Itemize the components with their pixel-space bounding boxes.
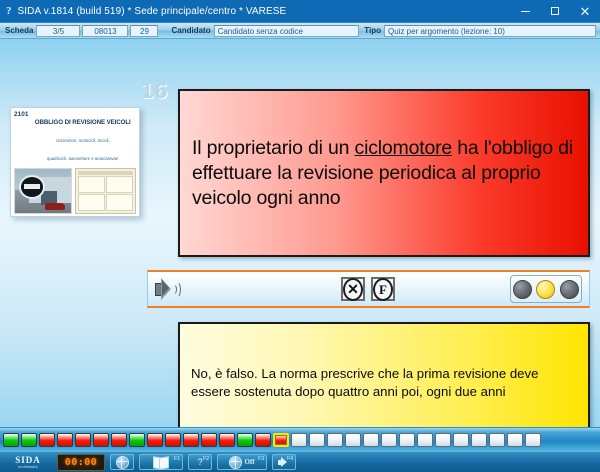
question-keyword: ciclomotore: [355, 137, 453, 159]
progress-cell-12[interactable]: [201, 433, 217, 447]
minimize-icon: [521, 11, 530, 12]
progress-cell-23[interactable]: [399, 433, 415, 447]
progress-cell-2[interactable]: [21, 433, 37, 447]
scheda-value-field[interactable]: 3/5: [36, 25, 80, 37]
document-illustration: [75, 168, 137, 214]
progress-cell-22[interactable]: [381, 433, 397, 447]
progress-cell-5[interactable]: [75, 433, 91, 447]
illustration-code: 2101: [14, 111, 28, 118]
language-off-button[interactable]: Off F3: [217, 454, 267, 470]
illustration-subtitle-1: ciclomotori, motocicli, tricicli,: [56, 138, 110, 143]
answer-buttons: ✕ F: [341, 277, 395, 301]
inspection-sign-icon: [19, 175, 45, 199]
answer-f-button[interactable]: F: [371, 277, 395, 301]
progress-cell-30[interactable]: [525, 433, 541, 447]
answer-text: No, è falso. La norma prescrive che la p…: [180, 365, 588, 401]
help-button[interactable]: ? F2: [188, 454, 212, 470]
progress-cell-18[interactable]: [309, 433, 325, 447]
progress-cell-24[interactable]: [417, 433, 433, 447]
workshop-photo: [14, 168, 72, 214]
document-cell: [78, 176, 105, 193]
progress-cell-7[interactable]: [111, 433, 127, 447]
illustration-body: [14, 168, 136, 214]
illustration-title-wrap: OBBLIGO DI REVISIONE VEICOLI ciclomotori…: [29, 111, 136, 165]
progress-cell-10[interactable]: [165, 433, 181, 447]
manual-fkey: F1: [174, 456, 180, 462]
quiz-stage: 2101 OBBLIGO DI REVISIONE VEICOLI ciclom…: [0, 38, 600, 427]
progress-cell-1[interactable]: [3, 433, 19, 447]
scheda-number-field[interactable]: 29: [130, 25, 158, 37]
close-button[interactable]: ✕: [570, 0, 600, 22]
traffic-light-indicator: [510, 275, 582, 303]
progress-cell-26[interactable]: [453, 433, 469, 447]
speaker-icon[interactable]: [154, 277, 180, 301]
light-lamp-center: [536, 280, 555, 299]
document-header-band: [78, 171, 134, 175]
progress-cell-19[interactable]: [327, 433, 343, 447]
progress-cell-8[interactable]: [129, 433, 145, 447]
progress-cell-29[interactable]: [507, 433, 523, 447]
audio-button[interactable]: F4: [272, 454, 296, 470]
progress-cell-28[interactable]: [489, 433, 505, 447]
illustration-card[interactable]: 2101 OBBLIGO DI REVISIONE VEICOLI ciclom…: [10, 107, 140, 217]
progress-cell-15[interactable]: [255, 433, 271, 447]
manual-button[interactable]: F1: [139, 454, 183, 470]
tipo-field[interactable]: Quiz per argomento (lezione: 10): [384, 25, 596, 37]
question-text: Il proprietario di un ciclomotore ha l'o…: [180, 136, 588, 211]
status-bar: SIDA multimedia 00:00 F1 ? F2 Off F3 F4: [0, 451, 600, 472]
letter-f-icon: F: [373, 278, 393, 301]
sida-logo: SIDA multimedia: [4, 454, 52, 471]
candidato-label: Candidato: [168, 26, 213, 35]
progress-cell-4[interactable]: [57, 433, 73, 447]
globe-icon: [229, 456, 242, 469]
car-shape: [45, 203, 65, 210]
title-bar: ? SIDA v.1814 (build 519) * Sede princip…: [0, 0, 600, 22]
window-controls: ✕: [510, 0, 600, 22]
candidato-field[interactable]: Candidato senza codice: [214, 25, 360, 37]
language-fkey: F3: [258, 456, 264, 462]
document-grid: [78, 176, 134, 211]
document-cell: [106, 176, 133, 193]
help-icon[interactable]: ?: [6, 5, 12, 17]
progress-cell-13[interactable]: [219, 433, 235, 447]
tipo-label: Tipo: [361, 26, 384, 35]
application-window: ? SIDA v.1814 (build 519) * Sede princip…: [0, 0, 600, 471]
logo-subtitle: multimedia: [18, 465, 37, 469]
cross-icon: ✕: [343, 278, 363, 301]
question-icon: ?: [197, 458, 202, 467]
logo-title: SIDA: [15, 456, 41, 465]
progress-cell-25[interactable]: [435, 433, 451, 447]
maximize-button[interactable]: [540, 0, 570, 22]
progress-cell-20[interactable]: [345, 433, 361, 447]
progress-cell-16[interactable]: [273, 433, 289, 447]
document-cell: [106, 194, 133, 211]
info-toolbar: Scheda 3/5 08013 29 Candidato Candidato …: [0, 22, 600, 38]
question-progress-bar: [0, 427, 600, 451]
progress-cell-11[interactable]: [183, 433, 199, 447]
illustration-subtitle-2: quadricicli, autovetture e autocaravan: [47, 156, 118, 161]
progress-cell-27[interactable]: [471, 433, 487, 447]
globe-icon: [116, 456, 129, 469]
answer-panel: No, è falso. La norma prescrive che la p…: [178, 322, 590, 427]
progress-cell-17[interactable]: [291, 433, 307, 447]
illustration-title: OBBLIGO DI REVISIONE VEICOLI: [35, 119, 131, 126]
language-off-label: Off: [244, 458, 254, 466]
progress-cell-14[interactable]: [237, 433, 253, 447]
globe-button[interactable]: [110, 454, 134, 470]
light-lamp-left: [513, 280, 532, 299]
scheda-code-field[interactable]: 08013: [82, 25, 128, 37]
minimize-button[interactable]: [510, 0, 540, 22]
scheda-label: Scheda: [2, 26, 36, 35]
book-icon: [153, 457, 169, 467]
window-title: SIDA v.1814 (build 519) * Sede principal…: [18, 6, 287, 17]
question-number: 16: [140, 79, 168, 103]
answer-false-button[interactable]: ✕: [341, 277, 365, 301]
illustration-header: 2101 OBBLIGO DI REVISIONE VEICOLI ciclom…: [14, 111, 136, 165]
progress-cell-21[interactable]: [363, 433, 379, 447]
progress-cell-6[interactable]: [93, 433, 109, 447]
question-text-part1: Il proprietario di un: [192, 137, 355, 159]
timer-display: 00:00: [57, 454, 105, 471]
document-cell: [78, 194, 105, 211]
maximize-icon: [551, 7, 559, 15]
audio-fkey: F4: [287, 456, 293, 462]
progress-cell-9[interactable]: [147, 433, 163, 447]
question-panel: Il proprietario di un ciclomotore ha l'o…: [178, 89, 590, 257]
light-lamp-right: [560, 280, 579, 299]
progress-cell-3[interactable]: [39, 433, 55, 447]
answer-control-bar: ✕ F: [147, 270, 590, 308]
help-fkey: F2: [203, 456, 209, 462]
